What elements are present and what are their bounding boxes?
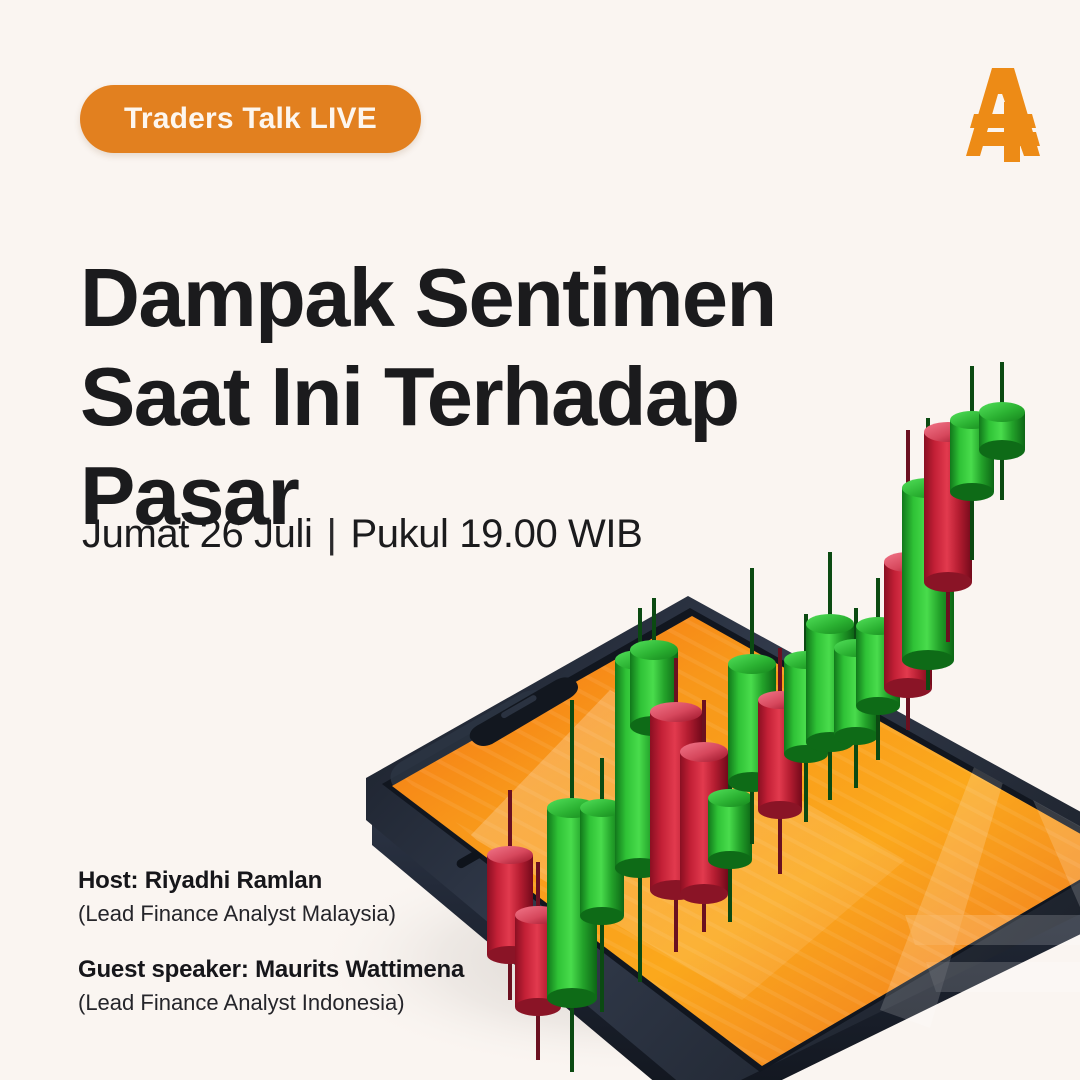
candle-10-bullish xyxy=(728,568,776,844)
candle-11-bearish xyxy=(758,648,802,874)
candle-7-bearish xyxy=(650,658,702,952)
candle-5-bullish xyxy=(615,608,665,982)
phone-volume-button xyxy=(470,808,523,845)
candle-20-bullish xyxy=(979,362,1025,500)
candle-6-bullish xyxy=(630,598,678,800)
event-time: Pukul 19.00 WIB xyxy=(350,512,642,557)
candle-16-bearish xyxy=(884,430,932,730)
candle-17-bullish xyxy=(902,418,954,690)
credit-host: Host: Riyadhi Ramlan (Lead Finance Analy… xyxy=(78,866,598,929)
page-title: Dampak Sentimen Saat Ini Terhadap Pasar xyxy=(80,248,820,545)
candle-8-bearish xyxy=(680,700,728,932)
headline-line-2: Saat Ini Terhadap xyxy=(80,347,820,446)
host-role: (Lead Finance Analyst Malaysia) xyxy=(78,899,598,929)
candle-18-bearish xyxy=(924,422,972,642)
candle-12-bullish xyxy=(784,614,828,822)
event-schedule: Jumat 26 Juli | Pukul 19.00 WIB xyxy=(82,512,642,557)
candle-15-bullish xyxy=(856,578,900,760)
promo-poster: Traders Talk LIVE Dampak Sentimen Saat I… xyxy=(0,0,1080,1080)
schedule-separator: | xyxy=(326,512,336,557)
speaker-credits: Host: Riyadhi Ramlan (Lead Finance Analy… xyxy=(78,866,598,1018)
badge-label: Traders Talk LIVE xyxy=(124,102,377,136)
candle-19-bullish xyxy=(950,366,994,560)
guest-speaker-name: Guest speaker: Maurits Wattimena xyxy=(78,955,598,985)
candle-9-bullish xyxy=(708,760,752,922)
headline-line-1: Dampak Sentimen xyxy=(80,248,820,347)
host-name: Host: Riyadhi Ramlan xyxy=(78,866,598,896)
a-logo-watermark-icon xyxy=(880,700,1080,1028)
anugerah-a-logo-icon xyxy=(930,58,1042,166)
event-date: Jumat 26 Juli xyxy=(82,512,312,557)
traders-talk-live-badge[interactable]: Traders Talk LIVE xyxy=(80,85,421,153)
guest-speaker-role: (Lead Finance Analyst Indonesia) xyxy=(78,988,598,1018)
credit-guest-speaker: Guest speaker: Maurits Wattimena (Lead F… xyxy=(78,955,598,1018)
candle-14-bullish xyxy=(834,608,878,788)
candle-13-bullish xyxy=(806,552,854,800)
